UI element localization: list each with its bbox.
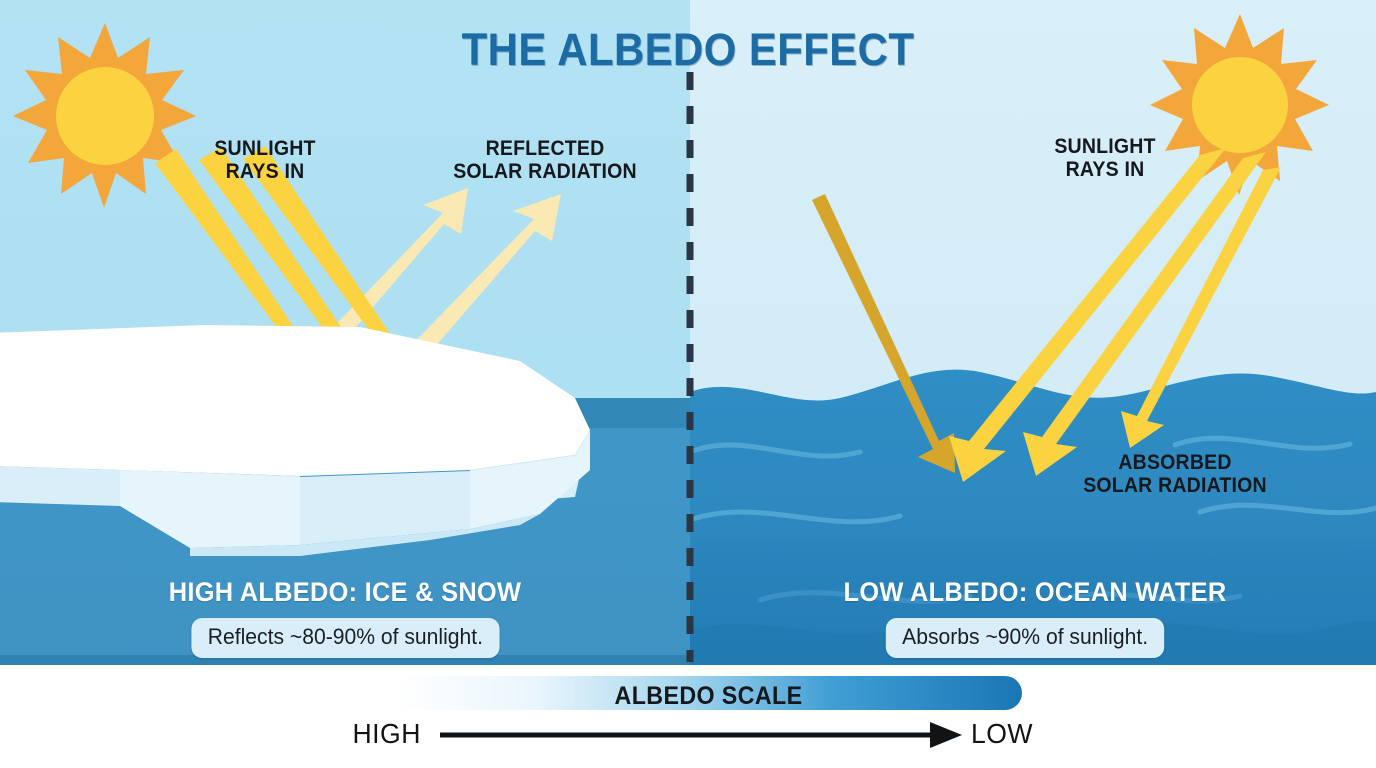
scale-high-label: HIGH: [353, 719, 448, 749]
label-line-2: SOLAR RADIATION: [1049, 475, 1300, 498]
label-line-1: REFLECTED: [410, 138, 680, 161]
label-line-1: ABSORBED: [1049, 452, 1300, 475]
page-title: THE ALBEDO EFFECT: [48, 26, 1328, 75]
label-absorbed-solar-radiation: ABSORBED SOLAR RADIATION: [1049, 452, 1300, 497]
iceberg-side-wall-left: [0, 466, 120, 506]
label-line-1: SUNLIGHT: [172, 138, 358, 161]
label-line-2: SOLAR RADIATION: [410, 161, 680, 184]
right-panel-title: LOW ALBEDO: OCEAN WATER: [753, 578, 1317, 607]
label-line-2: RAYS IN: [172, 161, 358, 184]
right-panel-stat-pill: Absorbs ~90% of sunlight.: [886, 618, 1165, 658]
albedo-scale-caption: ALBEDO SCALE: [417, 683, 1000, 710]
left-panel-stat-pill: Reflects ~80-90% of sunlight.: [191, 618, 499, 658]
label-reflected-solar-radiation: REFLECTED SOLAR RADIATION: [410, 138, 680, 183]
right-panel-scene: [690, 0, 1376, 665]
sun-core-icon: [56, 67, 154, 165]
scale-low-label: LOW: [971, 719, 1085, 749]
label-sunlight-rays-in-right: SUNLIGHT RAYS IN: [1007, 136, 1202, 181]
label-line-1: SUNLIGHT: [1007, 136, 1202, 159]
label-sunlight-rays-in-left: SUNLIGHT RAYS IN: [172, 138, 358, 183]
label-line-2: RAYS IN: [1007, 159, 1202, 182]
infographic-canvas: THE ALBEDO EFFECT SUNLIGHT RAYS IN REFLE…: [0, 0, 1376, 768]
left-panel-scene: [0, 0, 690, 665]
left-panel-title: HIGH ALBEDO: ICE & SNOW: [63, 578, 627, 607]
